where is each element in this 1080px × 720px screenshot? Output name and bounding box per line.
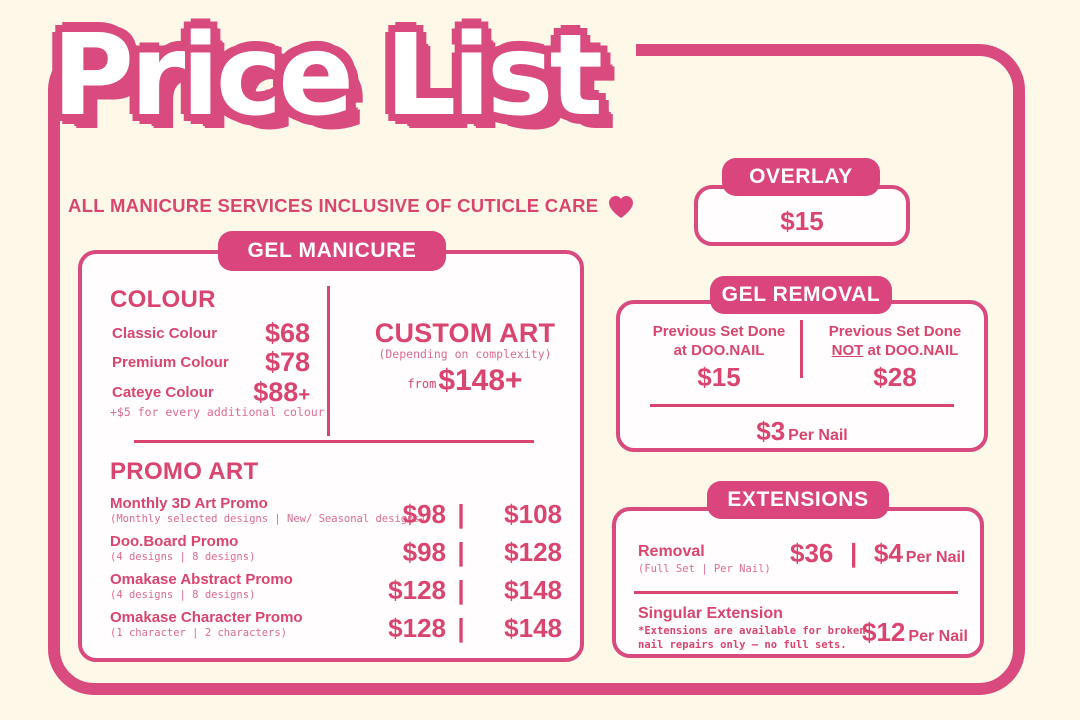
promo-prices: $128 | $148 [368,613,562,644]
label-line-1: Previous Set Done [653,323,786,340]
gel-card-vertical-divider [327,286,330,436]
price-value: $88 [253,377,298,407]
promo-price-a: $128 [368,613,446,644]
gel-card-horizontal-divider [134,440,534,443]
promo-price-b: $148 [476,575,562,606]
extensions-row-subtitle: (Full Set | Per Nail) [638,562,771,576]
subtitle: ALL MANICURE SERVICES INCLUSIVE OF CUTIC… [68,194,634,218]
extensions-price-value: $12 [862,617,905,647]
per-nail-unit: Per Nail [788,427,848,444]
price-suffix: + [298,384,310,406]
overlay-price: $15 [694,206,910,237]
custom-art-price: from$148+ [360,364,570,398]
promo-price-b: $108 [476,499,562,530]
label-line-1: Previous Set Done [829,323,962,340]
promo-price-separator: | [446,613,476,644]
overlay-badge: OVERLAY [722,158,880,196]
extensions-price-unit: Per Nail [908,628,968,645]
gel-removal-left-price: $15 [636,362,802,393]
colour-row-price: $68 [200,318,310,349]
page-title: Price List [52,20,672,132]
extensions-row-price: $12Per Nail [862,617,968,648]
gel-removal-horizontal-divider [650,404,954,407]
promo-row: Omakase Abstract Promo (4 designs | 8 de… [110,571,562,601]
promo-prices: $98 | $128 [368,537,562,568]
gel-removal-badge: GEL REMOVAL [710,276,892,314]
gel-manicure-badge: GEL MANICURE [218,231,446,271]
subtitle-line-2: nail repairs only – no full sets. [638,639,847,651]
promo-row: Monthly 3D Art Promo (Monthly selected d… [110,495,562,525]
extensions-row-prices: $36 | $4Per Nail [790,538,965,569]
colour-row-price: $88+ [200,377,310,408]
additional-colour-note: +$5 for every additional colour [110,405,325,419]
label-line-2: at DOO.NAIL [863,342,958,359]
extensions-row-subtitle: *Extensions are available for broken nai… [638,624,866,652]
custom-art-price-value: $148+ [438,364,522,397]
extensions-price-unit: Per Nail [906,549,966,566]
promo-art-heading: PROMO ART [110,458,258,486]
promo-prices: $128 | $148 [368,575,562,606]
per-nail-price: $3 [756,416,785,446]
promo-row: Doo.Board Promo (4 designs | 8 designs) … [110,533,562,563]
promo-price-separator: | [446,575,476,606]
extensions-divider [634,591,958,594]
subtitle-line-1: *Extensions are available for broken [638,625,866,637]
price-value: $78 [265,347,310,377]
gel-removal-vertical-divider [800,320,803,378]
promo-row: Omakase Character Promo (1 character | 2… [110,609,562,639]
gel-removal-left-label: Previous Set Done at DOO.NAIL [636,322,802,360]
price-list-poster: Price List ALL MANICURE SERVICES INCLUSI… [0,0,1080,720]
gel-removal-right-label: Previous Set Done NOT at DOO.NAIL [812,322,978,360]
title-block: Price List [52,20,672,150]
promo-prices: $98 | $108 [368,499,562,530]
extensions-price-b: $4 [874,538,903,568]
gel-removal-right-price: $28 [812,362,978,393]
custom-art-subtitle: (Depending on complexity) [360,347,570,361]
promo-price-a: $128 [368,575,446,606]
label-emphasis: NOT [832,342,864,359]
price-value: $68 [265,318,310,348]
custom-art-from-label: from [407,377,436,391]
colour-row-label: Cateye Colour [112,384,214,401]
promo-price-separator: | [446,537,476,568]
extensions-badge: EXTENSIONS [707,481,889,519]
promo-price-a: $98 [368,537,446,568]
gel-removal-per-nail: $3Per Nail [616,416,988,447]
custom-art-heading: CUSTOM ART [370,318,560,349]
promo-price-b: $128 [476,537,562,568]
promo-price-a: $98 [368,499,446,530]
label-line-2: at DOO.NAIL [674,342,765,359]
extensions-row-name: Removal [638,543,705,561]
heart-icon [608,195,634,219]
extensions-price-separator: | [841,538,867,569]
extensions-row-name: Singular Extension [638,605,783,623]
colour-heading: COLOUR [110,286,216,314]
subtitle-text: ALL MANICURE SERVICES INCLUSIVE OF CUTIC… [68,195,598,217]
promo-price-b: $148 [476,613,562,644]
promo-price-separator: | [446,499,476,530]
extensions-price-a: $36 [790,538,833,568]
colour-row-price: $78 [200,347,310,378]
